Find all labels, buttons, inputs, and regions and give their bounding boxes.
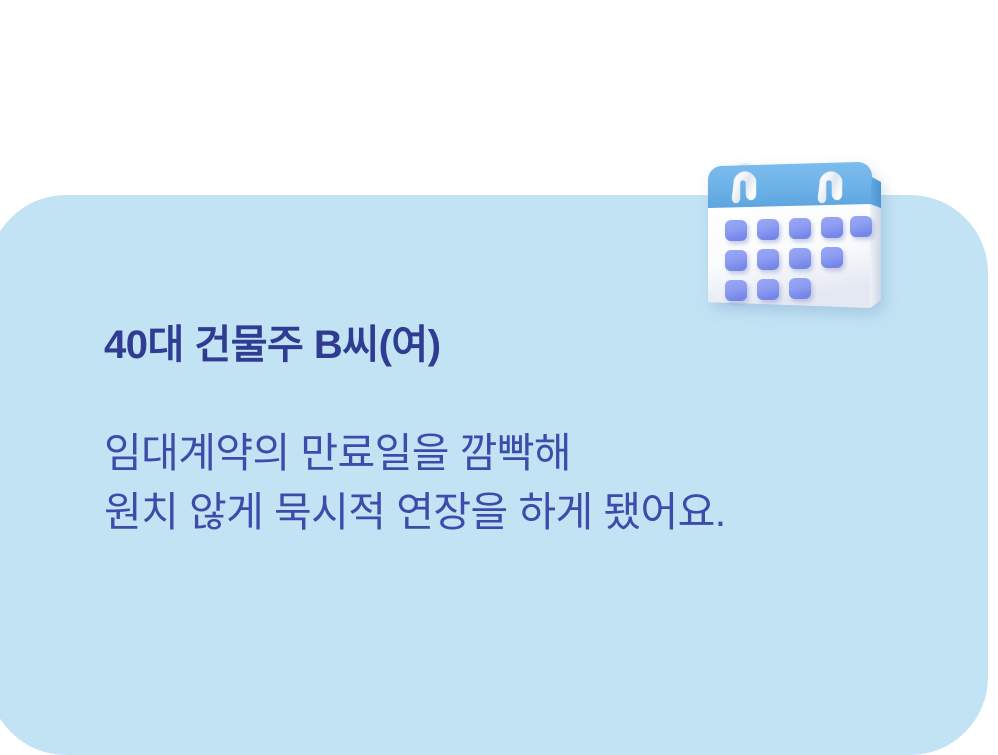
- quote-line-1: 임대계약의 만료일을 깜빡해: [104, 424, 904, 483]
- testimonial-quote: 임대계약의 만료일을 깜빡해 원치 않게 묵시적 연장을 하게 됐어요.: [104, 424, 904, 543]
- slide-canvas: 40대 건물주 B씨(여) 임대계약의 만료일을 깜빡해 원치 않게 묵시적 연…: [0, 0, 998, 711]
- testimonial-text-block: 40대 건물주 B씨(여) 임대계약의 만료일을 깜빡해 원치 않게 묵시적 연…: [104, 322, 904, 543]
- quote-line-2: 원치 않게 묵시적 연장을 하게 됐어요.: [104, 483, 904, 542]
- calendar-3d-icon: [698, 132, 894, 328]
- persona-headline: 40대 건물주 B씨(여): [104, 322, 904, 368]
